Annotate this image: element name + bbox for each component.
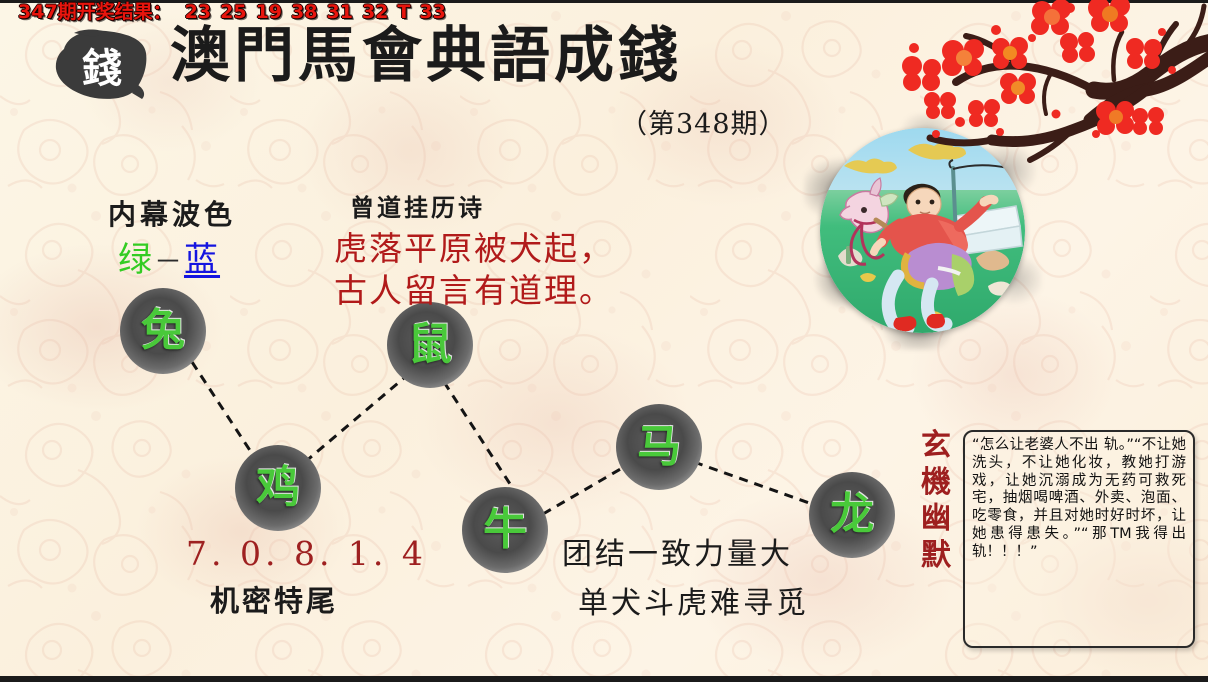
- vertical-char-4: 默: [916, 538, 956, 575]
- joke-text: “怎么让老婆人不出 轨。”“不让她洗头，不让她化妆，教她打游戏，让她沉溺成为无药…: [972, 437, 1186, 562]
- zodiac-label-rat: 鼠: [408, 323, 452, 367]
- vertical-char-1: 玄: [916, 428, 956, 465]
- result-number: 19: [256, 3, 282, 22]
- couplet-line-1: 团结一致力量大: [562, 529, 793, 573]
- result-number: 23: [185, 3, 211, 22]
- zodiac-label-rooster: 鸡: [256, 466, 300, 510]
- result-label: 347期开奖结果：: [18, 3, 172, 22]
- secret-tail-numbers: 7. 0. 8. 1. 4: [186, 534, 427, 573]
- zodiac-label-ox: 牛: [483, 508, 527, 552]
- result-special-marker: T: [397, 3, 410, 22]
- edge-rabbit-rooster: [192, 362, 253, 455]
- couplet-line-2: 单犬斗虎难寻觅: [578, 578, 809, 622]
- result-number: 25: [220, 3, 246, 22]
- result-number: 32: [362, 3, 388, 22]
- edge-rat-ox: [444, 382, 512, 487]
- zodiac-node-rooster[interactable]: 鸡: [235, 445, 321, 531]
- edge-ox-horse: [543, 467, 624, 514]
- edge-rooster-rat: [305, 378, 404, 462]
- edge-horse-dragon: [694, 462, 812, 504]
- vertical-char-2: 機: [916, 465, 956, 502]
- poem-line-1: 虎落平原被犬起，: [334, 222, 614, 270]
- zodiac-node-rabbit[interactable]: 兔: [120, 288, 206, 374]
- issue-number: （第348期）: [620, 102, 787, 141]
- lottery-result-bar: 347期开奖结果： 23 25 19 38 31 32 T 33: [0, 0, 1208, 24]
- result-number-list: 23 25 19 38 31 32 T 33: [185, 3, 446, 22]
- poem-title: 曾道挂历诗: [350, 188, 485, 223]
- result-special-number: 33: [419, 3, 445, 22]
- inside-color-title: 内幕波色: [108, 193, 236, 233]
- poster-root: 347期开奖结果： 23 25 19 38 31 32 T 33: [0, 0, 1208, 682]
- bottom-edge-line: [0, 676, 1208, 682]
- poem-line-2: 古人留言有道理。: [334, 264, 614, 312]
- xuanji-humor-label: 玄 機 幽 默: [916, 428, 956, 574]
- color-separator: －: [154, 245, 184, 278]
- zodiac-node-horse[interactable]: 马: [616, 404, 702, 490]
- plum-blossom-branch-decoration: [900, 0, 1208, 169]
- zodiac-node-rat[interactable]: 鼠: [387, 302, 473, 388]
- zodiac-label-rabbit: 兔: [141, 309, 185, 353]
- zodiac-label-dragon: 龙: [830, 493, 874, 537]
- result-number: 38: [291, 3, 317, 22]
- joke-text-box: “怎么让老婆人不出 轨。”“不让她洗头，不让她化妆，教她打游戏，让她沉溺成为无药…: [963, 430, 1195, 648]
- color-blue: 蓝: [184, 240, 220, 280]
- zodiac-node-dragon[interactable]: 龙: [809, 472, 895, 558]
- branch-stems: [930, 6, 1208, 160]
- color-green: 绿: [118, 240, 154, 280]
- secret-tail-label: 机密特尾: [210, 578, 338, 620]
- zodiac-node-ox[interactable]: 牛: [462, 487, 548, 573]
- page-title: 澳門馬會典語成錢: [170, 26, 682, 86]
- zodiac-label-horse: 马: [637, 425, 681, 469]
- money-seal: 錢: [50, 27, 150, 103]
- result-number: 31: [326, 3, 352, 22]
- inside-color-values: 绿－蓝: [118, 232, 220, 281]
- seal-character: 錢: [50, 27, 150, 103]
- vertical-char-3: 幽: [916, 501, 956, 538]
